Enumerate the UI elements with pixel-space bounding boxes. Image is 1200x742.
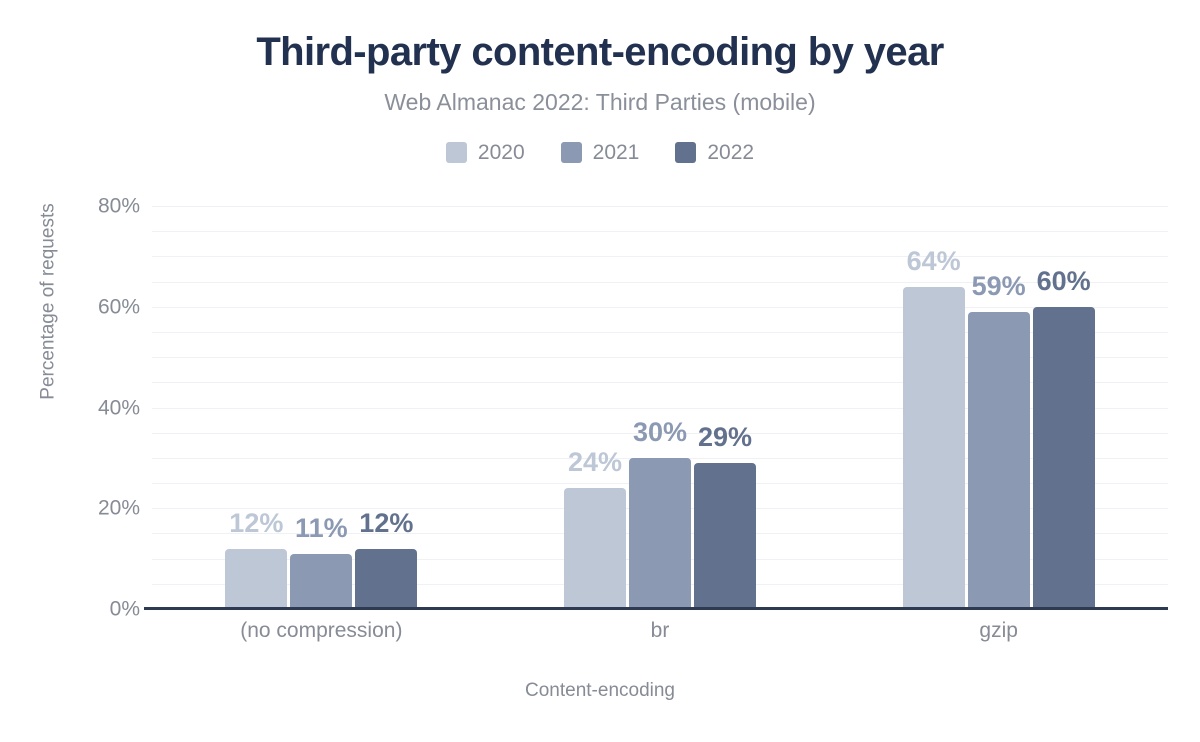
bar[interactable] <box>629 458 691 609</box>
legend-label-2022: 2022 <box>707 142 754 163</box>
bar[interactable] <box>290 554 352 609</box>
bar[interactable] <box>564 488 626 609</box>
bar-value-label: 12% <box>219 510 293 537</box>
bar[interactable] <box>355 549 417 609</box>
legend-swatch-2022 <box>675 142 696 163</box>
chart-figure: Third-party content-encoding by year Web… <box>0 0 1200 742</box>
legend-swatch-2021 <box>561 142 582 163</box>
bar-value-label: 30% <box>623 419 697 446</box>
bar-value-label: 59% <box>962 273 1036 300</box>
bar-value-label: 12% <box>349 510 423 537</box>
bar-value-label: 60% <box>1027 268 1101 295</box>
chart-subtitle: Web Almanac 2022: Third Parties (mobile) <box>0 89 1200 115</box>
chart-legend: 202020212022 <box>0 142 1200 163</box>
legend-label-2021: 2021 <box>593 142 640 163</box>
x-axis-tick: br <box>651 620 670 641</box>
legend-label-2020: 2020 <box>478 142 525 163</box>
bar[interactable] <box>1033 307 1095 609</box>
bar[interactable] <box>225 549 287 609</box>
x-axis-title: Content-encoding <box>0 681 1200 700</box>
bar[interactable] <box>694 463 756 609</box>
plot-area: 12%11%12%24%30%29%64%59%60% <box>152 206 1168 609</box>
bar-value-label: 11% <box>284 515 358 542</box>
x-axis-tick: (no compression) <box>240 620 402 641</box>
bar-value-label: 64% <box>897 248 971 275</box>
bar[interactable] <box>903 287 965 609</box>
y-axis-tick: 20% <box>30 498 140 519</box>
legend-item-2021[interactable]: 2021 <box>561 142 640 163</box>
bar[interactable] <box>968 312 1030 609</box>
x-axis-tick: gzip <box>979 620 1018 641</box>
legend-item-2020[interactable]: 2020 <box>446 142 525 163</box>
y-axis-tick: 0% <box>30 599 140 620</box>
bars-layer: 12%11%12%24%30%29%64%59%60% <box>152 206 1168 609</box>
bar-value-label: 29% <box>688 424 762 451</box>
y-axis-title: Percentage of requests <box>39 192 58 412</box>
legend-swatch-2020 <box>446 142 467 163</box>
legend-item-2022[interactable]: 2022 <box>675 142 754 163</box>
bar-value-label: 24% <box>558 449 632 476</box>
chart-title: Third-party content-encoding by year <box>0 30 1200 74</box>
x-axis-baseline <box>144 607 1168 610</box>
